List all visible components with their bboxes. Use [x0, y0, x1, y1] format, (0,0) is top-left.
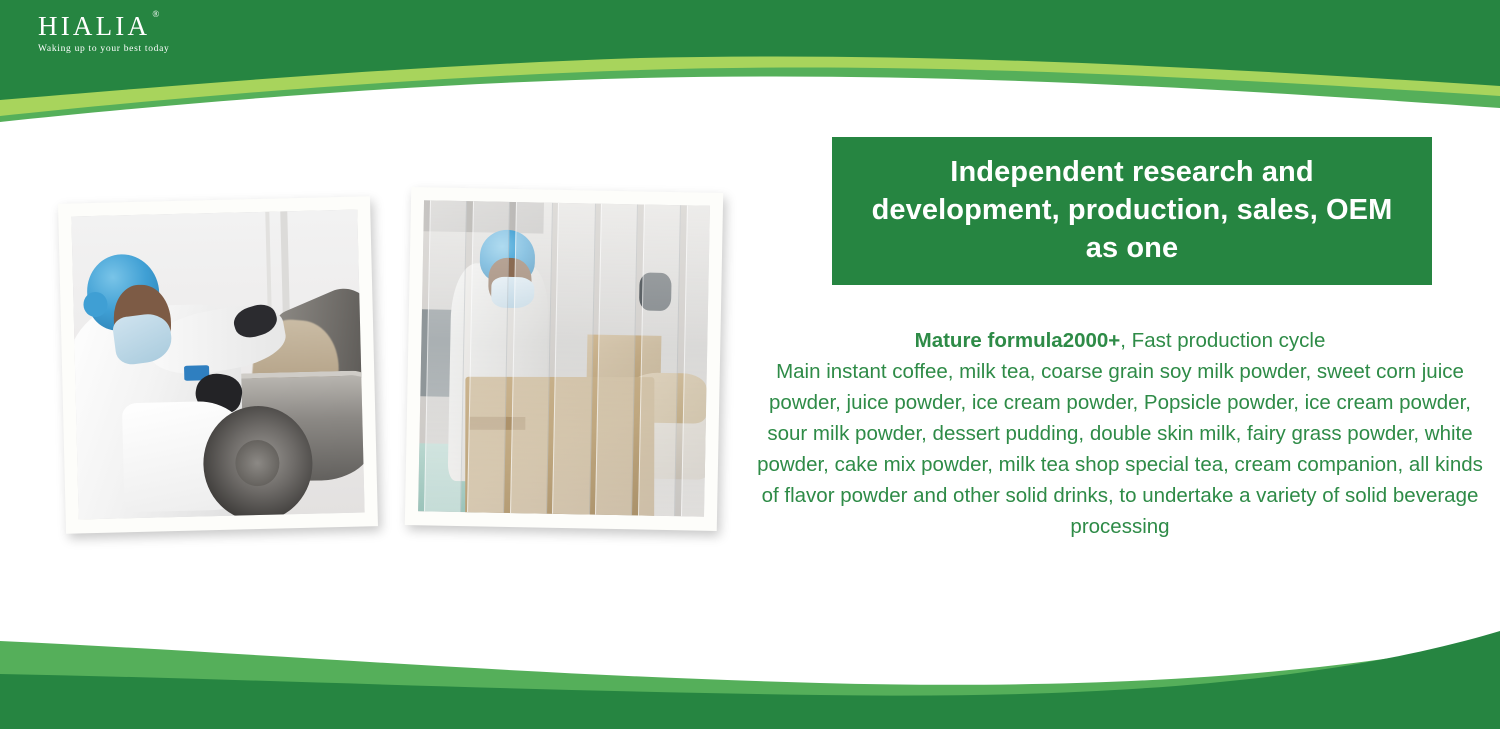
- headline-text: Independent research and development, pr…: [832, 154, 1432, 267]
- pvc-strip: [595, 204, 638, 516]
- bottom-wave-mid-band: [0, 639, 1500, 729]
- pvc-strip-curtain: [418, 200, 710, 516]
- brand-name: HIALIA®: [38, 12, 150, 40]
- top-wave-dark-band: [0, 0, 1500, 100]
- headline-banner: Independent research and development, pr…: [832, 137, 1432, 285]
- body-copy: Mature formula2000+, Fast production cyc…: [748, 325, 1492, 542]
- brand-tagline: Waking up to your best today: [38, 44, 170, 54]
- bottom-wave-decoration: [0, 579, 1500, 729]
- scene-powder-mixing: [71, 210, 364, 520]
- top-wave-decoration: [0, 0, 1500, 130]
- pvc-strip: [552, 203, 595, 515]
- scene-carton-packing: [418, 200, 710, 516]
- photo-image-carton-packing: [418, 200, 710, 516]
- photo-card-carton-packing: [405, 187, 723, 531]
- body-lead-rest: , Fast production cycle: [1120, 329, 1325, 352]
- brand-logo: HIALIA® Waking up to your best today: [38, 12, 170, 54]
- pvc-strip: [638, 205, 681, 517]
- photo-card-powder-mixing: [58, 196, 378, 534]
- body-lead-highlight: Mature formula2000+: [915, 329, 1121, 352]
- registered-mark-icon: ®: [152, 10, 159, 19]
- top-wave-light-band: [0, 0, 1500, 116]
- pvc-strip: [681, 205, 710, 516]
- pvc-strip: [510, 202, 553, 514]
- slide-canvas: HIALIA® Waking up to your best today: [0, 0, 1500, 729]
- body-paragraph: Main instant coffee, milk tea, coarse gr…: [748, 356, 1492, 542]
- bottom-wave-dark-band: [0, 631, 1500, 729]
- top-wave-mid-band: [0, 0, 1500, 122]
- photo-image-powder-mixing: [71, 210, 364, 520]
- pvc-strip: [467, 201, 510, 513]
- body-lead-line: Mature formula2000+, Fast production cyc…: [748, 325, 1492, 356]
- pvc-strip: [424, 200, 467, 512]
- brand-name-text: HIALIA: [38, 11, 150, 41]
